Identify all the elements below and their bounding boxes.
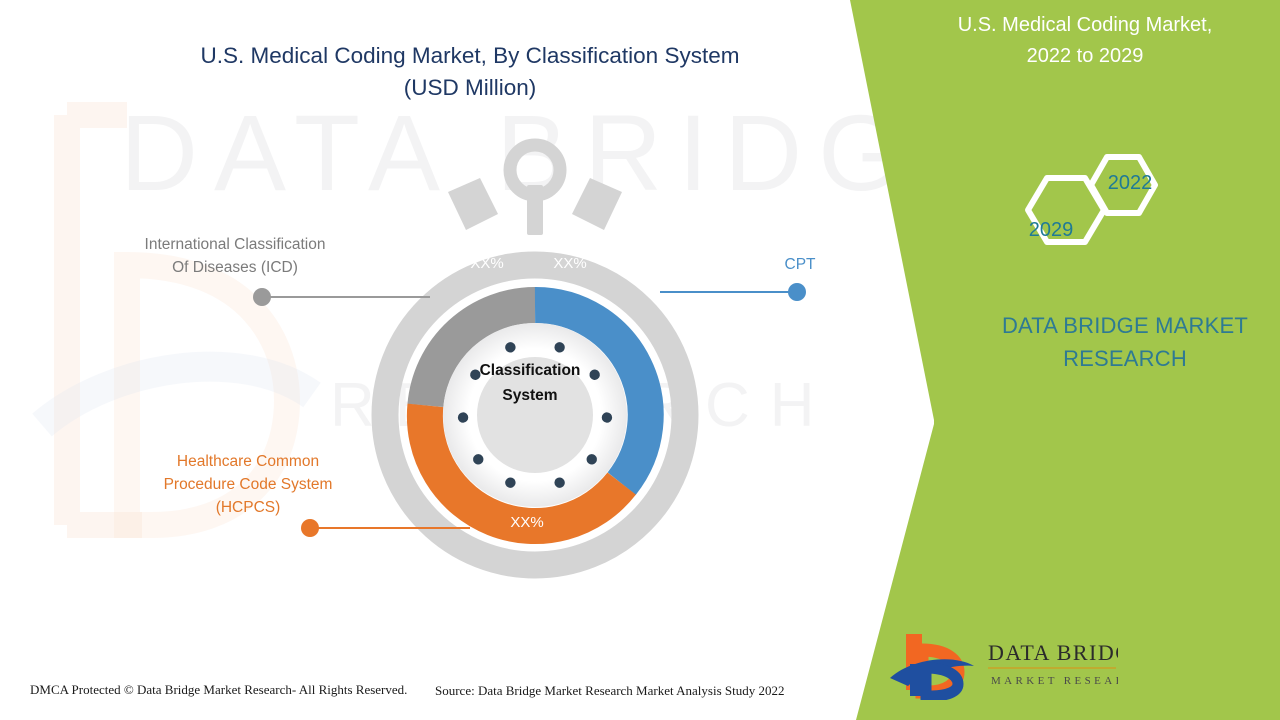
panel-title: U.S. Medical Coding Market, 2022 to 2029: [915, 10, 1255, 72]
footer-dmca-notice: DMCA Protected © Data Bridge Market Rese…: [30, 682, 407, 698]
callout-label-icd: International Classification Of Diseases…: [95, 233, 375, 279]
hexagon-2022-label: 2022: [1095, 172, 1165, 195]
callout-label-hcpcs-line3: (HCPCS): [118, 496, 378, 519]
donut-chart: [340, 130, 730, 580]
infographic-canvas: DATA BRIDGE RESEARCH U.S. Medical Coding…: [0, 0, 1280, 720]
brand-name-line2: RESEARCH: [975, 342, 1275, 375]
chart-title-line1: U.S. Medical Coding Market, By Classific…: [150, 40, 790, 72]
callout-label-hcpcs-line2: Procedure Code System: [118, 473, 378, 496]
donut-center-line2: System: [455, 383, 605, 408]
stopwatch-crown-icon: [510, 145, 560, 235]
logo-name-line1: DATA BRIDGE: [988, 640, 1118, 665]
panel-title-line1: U.S. Medical Coding Market,: [915, 10, 1255, 41]
hexagon-2029-label: 2029: [1016, 219, 1086, 242]
segment-value-hcpcs: XX%: [492, 514, 562, 531]
brand-name: DATA BRIDGE MARKET RESEARCH: [975, 309, 1275, 375]
chart-title-line2: (USD Million): [150, 72, 790, 104]
callout-label-cpt: CPT: [745, 253, 855, 276]
databridge-logo: DATA BRIDGE MARKET RESEARCH: [888, 628, 1118, 700]
callout-label-cpt-line1: CPT: [745, 253, 855, 276]
callout-label-hcpcs: Healthcare Common Procedure Code System …: [118, 450, 378, 519]
callout-label-hcpcs-line1: Healthcare Common: [118, 450, 378, 473]
footer-source-note: Source: Data Bridge Market Research Mark…: [435, 683, 784, 699]
segment-value-cpt: XX%: [535, 255, 605, 272]
donut-center-line1: Classification: [455, 358, 605, 383]
segment-value-icd: XX%: [452, 255, 522, 272]
brand-name-line1: DATA BRIDGE MARKET: [975, 309, 1275, 342]
chart-title: U.S. Medical Coding Market, By Classific…: [150, 40, 790, 104]
logo-name-line2: MARKET RESEARCH: [991, 675, 1118, 687]
donut-center-label: Classification System: [455, 358, 605, 408]
hexagon-group: [990, 140, 1190, 290]
callout-label-icd-line1: International Classification: [95, 233, 375, 256]
panel-title-line2: 2022 to 2029: [915, 41, 1255, 72]
callout-label-icd-line2: Of Diseases (ICD): [95, 256, 375, 279]
